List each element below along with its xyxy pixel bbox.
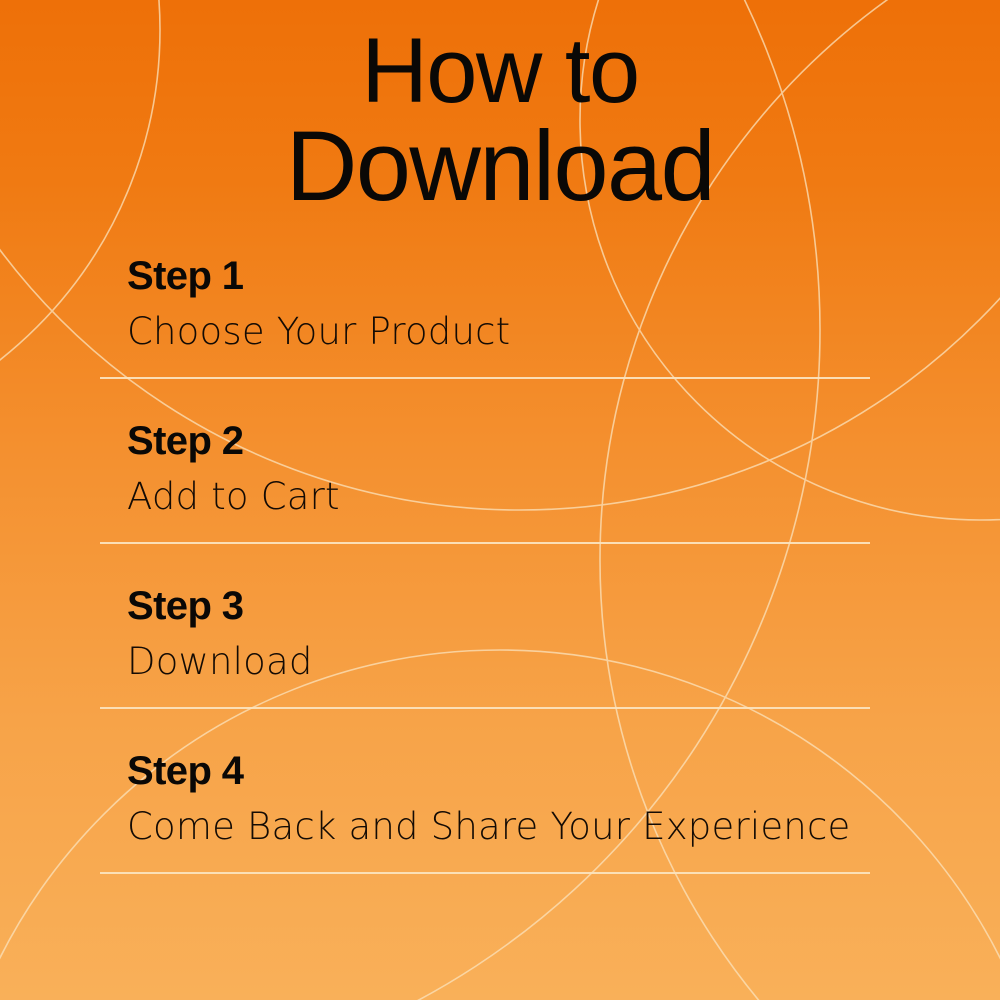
step-description-1: Choose Your Product (127, 313, 1000, 350)
step-description-3: Download (127, 643, 1000, 680)
step-item-4: Step 4 Come Back and Share Your Experien… (0, 743, 1000, 908)
step-item-2: Step 2 Add to Cart (0, 413, 1000, 578)
how-to-download-poster: How to Download Step 1 Choose Your Produ… (0, 0, 1000, 1000)
step-label-3: Step 3 (127, 578, 1000, 626)
step-label-4: Step 4 (127, 743, 1000, 791)
step-description-2: Add to Cart (127, 478, 1000, 515)
page-title-line-1: How to (0, 28, 1000, 115)
step-item-1: Step 1 Choose Your Product (0, 248, 1000, 413)
page-title-line-2: Download (0, 119, 1000, 213)
step-label-1: Step 1 (127, 248, 1000, 296)
step-divider-1 (100, 377, 870, 379)
step-divider-3 (100, 707, 870, 709)
step-label-2: Step 2 (127, 413, 1000, 461)
steps-list: Step 1 Choose Your Product Step 2 Add to… (0, 248, 1000, 908)
step-description-4: Come Back and Share Your Experience (127, 808, 1000, 845)
step-item-3: Step 3 Download (0, 578, 1000, 743)
step-divider-4 (100, 872, 870, 874)
page-title: How to Download (0, 28, 1000, 213)
step-divider-2 (100, 542, 870, 544)
